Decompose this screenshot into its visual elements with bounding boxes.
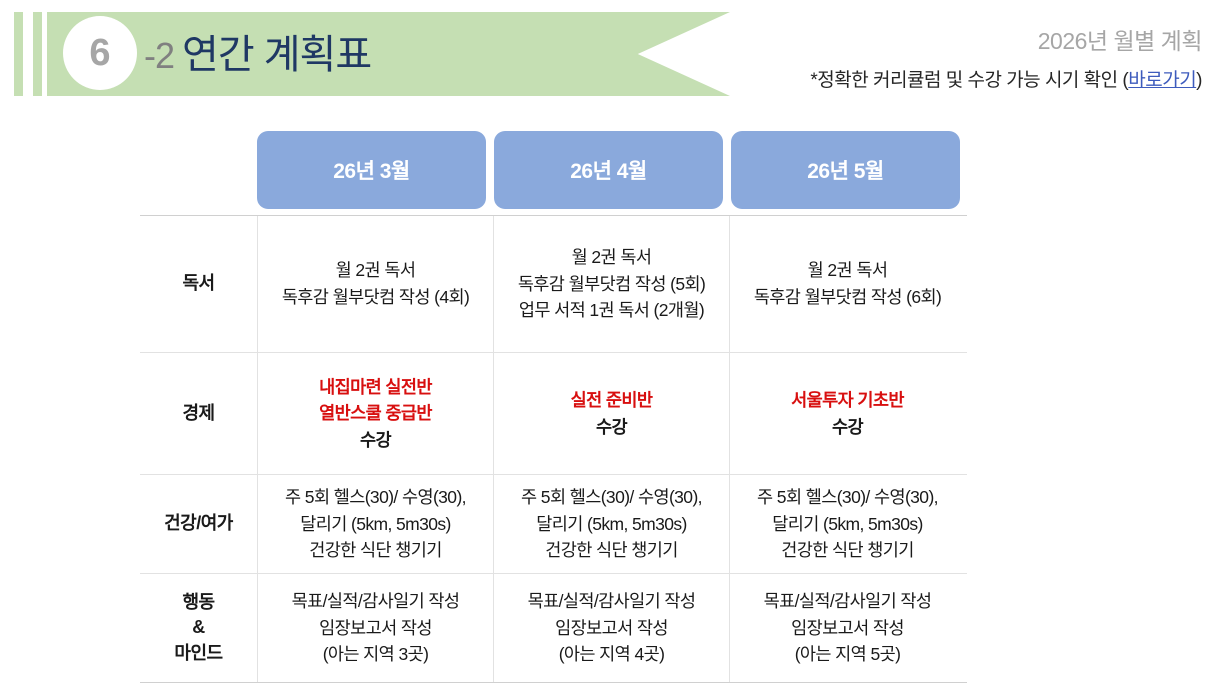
plan-cell-line: 서울투자 기초반 — [791, 387, 904, 414]
plan-cell-line: 주 5회 헬스(30)/ 수영(30), — [521, 484, 702, 511]
plan-cell-r3-c3: 주 5회 헬스(30)/ 수영(30),달리기 (5km, 5m30s)건강한 … — [729, 475, 965, 573]
accent-bar-left-outer — [14, 12, 23, 96]
plan-cell-line: 월 2권 독서 — [808, 257, 888, 284]
row-label-3: 건강/여가 — [140, 475, 257, 573]
plan-cell-line: 독후감 월부닷컴 작성 (5회) — [518, 271, 705, 298]
plan-cell-line: 건강한 식단 챙기기 — [545, 537, 678, 564]
plan-cell-line: 업무 서적 1권 독서 (2개월) — [519, 297, 704, 324]
plan-cell-line: 수강 — [832, 414, 863, 441]
plan-cell-r1-c1: 월 2권 독서독후감 월부닷컴 작성 (4회) — [257, 216, 493, 352]
plan-cell-line: 건강한 식단 챙기기 — [309, 537, 442, 564]
month-header-2[interactable]: 26년 4월 — [494, 131, 723, 209]
plan-cell-r1-c2: 월 2권 독서독후감 월부닷컴 작성 (5회)업무 서적 1권 독서 (2개월) — [493, 216, 729, 352]
plan-cell-line: 목표/실적/감사일기 작성 — [528, 588, 696, 615]
plan-cell-r2-c2: 실전 준비반수강 — [493, 353, 729, 474]
row-label-spacer — [140, 131, 257, 209]
plan-cell-r2-c3: 서울투자 기초반수강 — [729, 353, 965, 474]
plan-cell-line: 달리기 (5km, 5m30s) — [300, 511, 451, 538]
header-year-label: 2026년 월별 계획 — [810, 22, 1202, 56]
plan-cell-line: 주 5회 헬스(30)/ 수영(30), — [285, 484, 466, 511]
plan-cell-line: 독후감 월부닷컴 작성 (6회) — [754, 284, 941, 311]
plan-cell-r4-c2: 목표/실적/감사일기 작성임장보고서 작성(아는 지역 4곳) — [493, 574, 729, 682]
row-label-1: 독서 — [140, 216, 257, 352]
month-header-3[interactable]: 26년 5월 — [731, 131, 960, 209]
row-label-2: 경제 — [140, 353, 257, 474]
page-title: -2 연간 계획표 — [144, 22, 371, 80]
plan-cell-line: 내집마련 실전반 — [319, 374, 432, 401]
header-meta: 2026년 월별 계획 *정확한 커리큘럼 및 수강 가능 시기 확인 (바로가… — [810, 22, 1202, 92]
row-label-4: 행동&마인드 — [140, 574, 257, 682]
plan-cell-line: (아는 지역 5곳) — [795, 641, 901, 668]
plan-cell-line: 건강한 식단 챙기기 — [781, 537, 914, 564]
plan-cell-line: 달리기 (5km, 5m30s) — [536, 511, 687, 538]
plan-cell-line: 월 2권 독서 — [336, 257, 416, 284]
plan-cell-r3-c1: 주 5회 헬스(30)/ 수영(30),달리기 (5km, 5m30s)건강한 … — [257, 475, 493, 573]
plan-cell-line: 임장보고서 작성 — [555, 615, 668, 642]
plan-cell-r1-c3: 월 2권 독서독후감 월부닷컴 작성 (6회) — [729, 216, 965, 352]
plan-cell-line: 목표/실적/감사일기 작성 — [292, 588, 460, 615]
plan-table-body: 독서월 2권 독서독후감 월부닷컴 작성 (4회)월 2권 독서독후감 월부닷컴… — [140, 215, 967, 683]
plan-cell-line: 열반스쿨 중급반 — [319, 400, 432, 427]
plan-cell-line: 달리기 (5km, 5m30s) — [772, 511, 923, 538]
plan-cell-r2-c1: 내집마련 실전반열반스쿨 중급반수강 — [257, 353, 493, 474]
plan-cell-line: 수강 — [596, 414, 627, 441]
table-row: 건강/여가주 5회 헬스(30)/ 수영(30),달리기 (5km, 5m30s… — [140, 475, 967, 574]
month-header-row: 26년 3월26년 4월26년 5월 — [140, 131, 967, 209]
plan-cell-r4-c3: 목표/실적/감사일기 작성임장보고서 작성(아는 지역 5곳) — [729, 574, 965, 682]
month-header-1[interactable]: 26년 3월 — [257, 131, 486, 209]
plan-cell-line: 수강 — [360, 427, 391, 454]
annual-plan-table: 26년 3월26년 4월26년 5월 독서월 2권 독서독후감 월부닷컴 작성 … — [140, 131, 967, 683]
table-row: 독서월 2권 독서독후감 월부닷컴 작성 (4회)월 2권 독서독후감 월부닷컴… — [140, 216, 967, 353]
page-title-main: 연간 계획표 — [182, 22, 371, 80]
page-title-sub: -2 — [144, 35, 174, 77]
month-header-label: 26년 5월 — [807, 155, 884, 185]
plan-cell-line: 실전 준비반 — [571, 387, 653, 414]
plan-cell-line: (아는 지역 3곳) — [323, 641, 429, 668]
accent-bar-left-inner — [33, 12, 42, 96]
plan-cell-r3-c2: 주 5회 헬스(30)/ 수영(30),달리기 (5km, 5m30s)건강한 … — [493, 475, 729, 573]
chapter-number: 6 — [89, 34, 110, 72]
table-row: 행동&마인드목표/실적/감사일기 작성임장보고서 작성(아는 지역 3곳)목표/… — [140, 574, 967, 682]
plan-cell-r4-c1: 목표/실적/감사일기 작성임장보고서 작성(아는 지역 3곳) — [257, 574, 493, 682]
page-header: 6 -2 연간 계획표 2026년 월별 계획 *정확한 커리큘럼 및 수강 가… — [0, 0, 1216, 108]
header-note-suffix: ) — [1196, 70, 1202, 91]
month-header-label: 26년 3월 — [333, 155, 410, 185]
table-row: 경제내집마련 실전반열반스쿨 중급반수강실전 준비반수강서울투자 기초반수강 — [140, 353, 967, 475]
plan-cell-line: 월 2권 독서 — [572, 244, 652, 271]
header-link[interactable]: 바로가기 — [1128, 70, 1196, 91]
plan-cell-line: 주 5회 헬스(30)/ 수영(30), — [757, 484, 938, 511]
plan-cell-line: 임장보고서 작성 — [319, 615, 432, 642]
chapter-badge: 6 — [63, 16, 137, 90]
plan-cell-line: 독후감 월부닷컴 작성 (4회) — [282, 284, 469, 311]
plan-cell-line: 임장보고서 작성 — [791, 615, 904, 642]
header-note: *정확한 커리큘럼 및 수강 가능 시기 확인 (바로가기) — [810, 65, 1202, 92]
plan-cell-line: 목표/실적/감사일기 작성 — [764, 588, 932, 615]
month-header-label: 26년 4월 — [570, 155, 647, 185]
header-note-prefix: *정확한 커리큘럼 및 수강 가능 시기 확인 ( — [810, 70, 1128, 91]
plan-cell-line: (아는 지역 4곳) — [559, 641, 665, 668]
